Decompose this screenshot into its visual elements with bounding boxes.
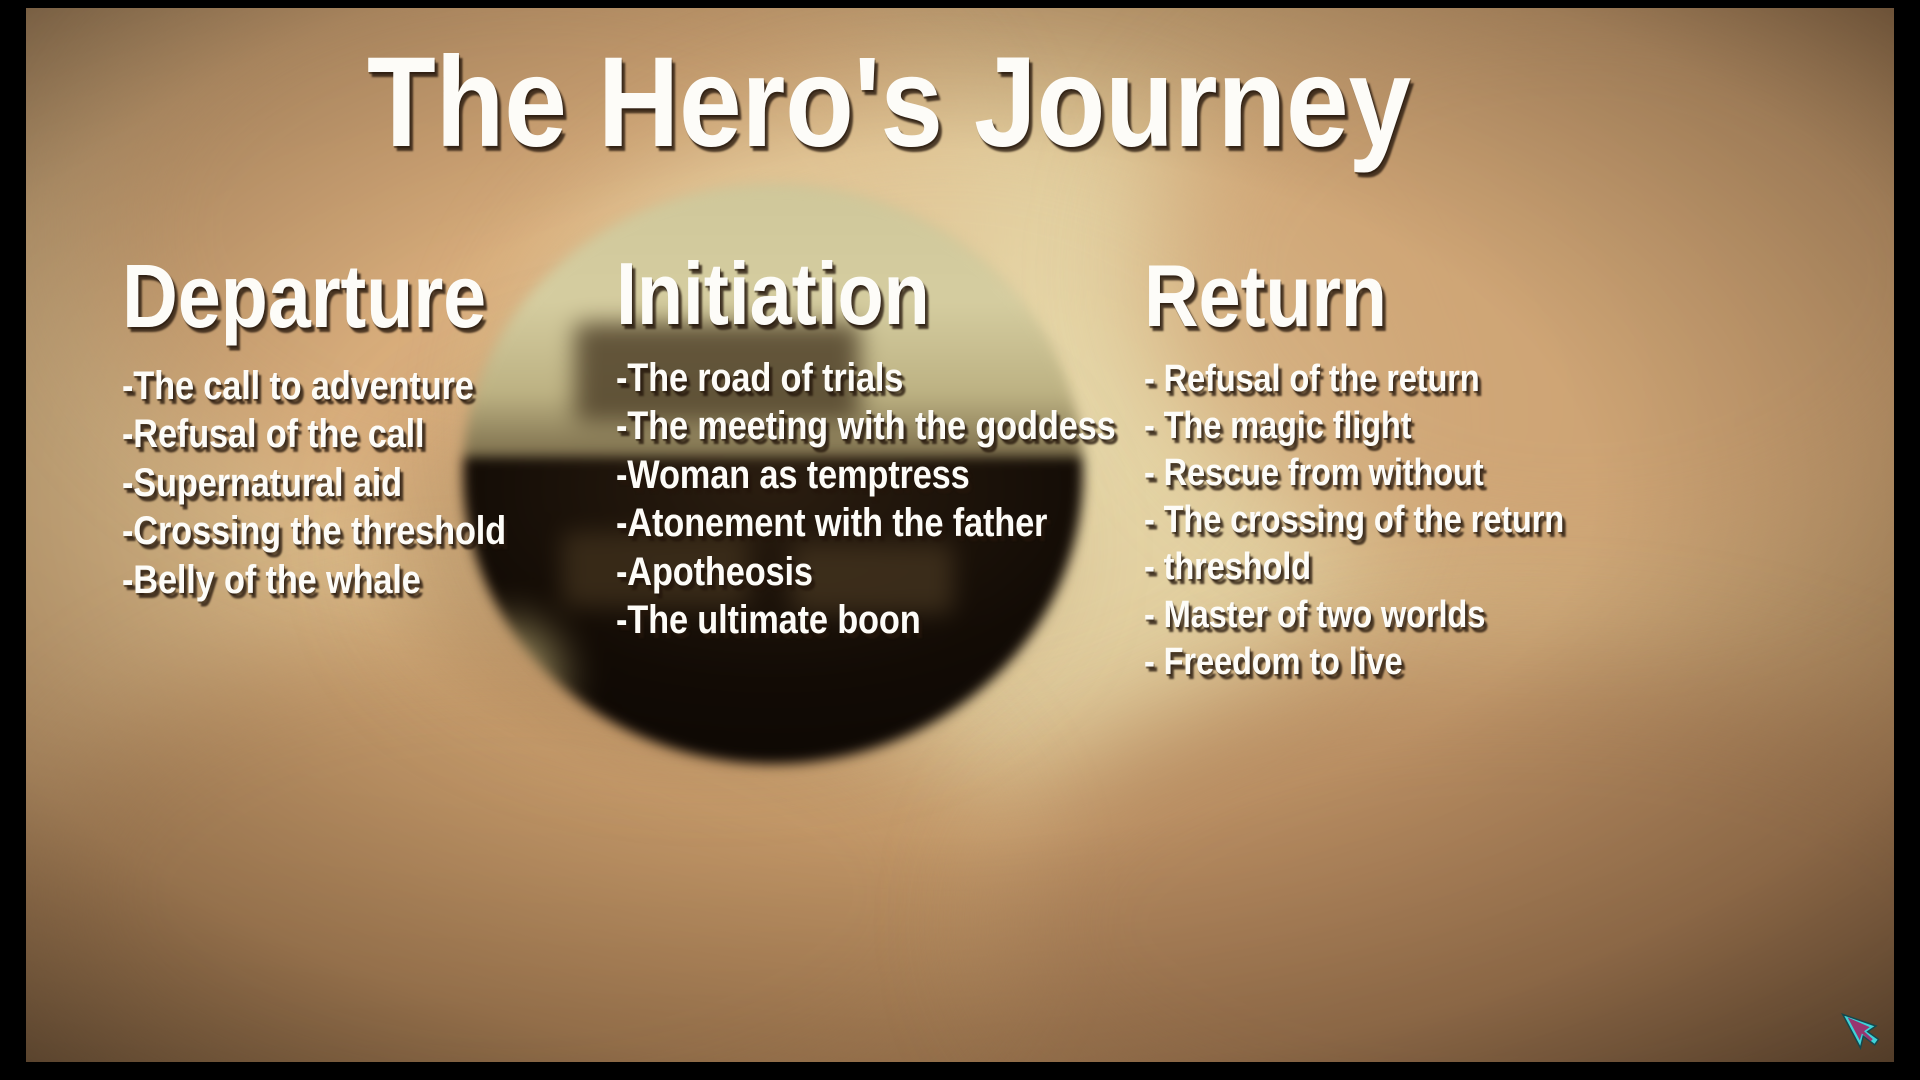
list-item: -The call to adventure — [122, 362, 506, 410]
list-item: -Crossing the threshold — [122, 507, 506, 555]
list-item: -Supernatural aid — [122, 459, 506, 507]
column-departure: Departure -The call to adventure -Refusa… — [122, 252, 569, 604]
list-item: -Apotheosis — [616, 548, 1116, 596]
list-item: -The road of trials — [616, 354, 1116, 402]
column-heading-departure: Departure — [122, 252, 506, 342]
list-item: - Rescue from without — [1144, 450, 1564, 497]
list-item: - threshold — [1144, 544, 1564, 591]
letterbox-right — [0, 0, 26, 1080]
list-item: - The crossing of the return — [1144, 497, 1564, 544]
list-item: - Refusal of the return — [1144, 356, 1564, 403]
list-item: -The ultimate boon — [616, 596, 1116, 644]
list-item: -Atonement with the father — [616, 499, 1116, 547]
list-item: - The magic flight — [1144, 403, 1564, 450]
column-heading-initiation: Initiation — [616, 250, 1116, 338]
list-item: -Belly of the whale — [122, 556, 506, 604]
slide-canvas: The Hero's Journey Departure -The call t… — [0, 0, 1920, 1080]
list-item: -The meeting with the goddess — [616, 402, 1116, 450]
column-initiation: Initiation -The road of trials -The meet… — [616, 250, 1197, 644]
column-heading-return: Return — [1144, 252, 1564, 340]
list-item: -Refusal of the call — [122, 410, 506, 458]
list-item: - Master of two worlds — [1144, 592, 1564, 639]
letterbox-bottom — [0, 1062, 1920, 1080]
slide-content: The Hero's Journey Departure -The call t… — [26, 8, 1894, 1062]
mouse-cursor-icon — [1838, 1004, 1882, 1056]
list-initiation: -The road of trials -The meeting with th… — [616, 354, 1197, 644]
title-block: The Hero's Journey — [26, 36, 1894, 169]
list-item: -Woman as temptress — [616, 451, 1116, 499]
letterbox-top — [0, 0, 1920, 8]
list-return: - Refusal of the return - The magic flig… — [1144, 356, 1632, 686]
list-item: - Freedom to live — [1144, 639, 1564, 686]
page-title: The Hero's Journey — [367, 36, 1411, 169]
list-departure: -The call to adventure -Refusal of the c… — [122, 362, 569, 604]
column-return: Return - Refusal of the return - The mag… — [1144, 252, 1632, 686]
